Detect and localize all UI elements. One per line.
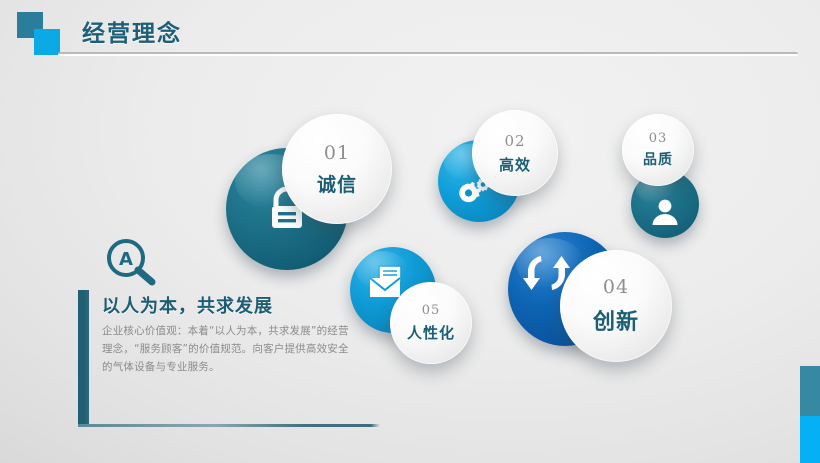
concept-heading: 以人为本，共求发展 [102,292,273,318]
edge-block-blue [800,416,820,463]
concept-paragraph: 企业核心价值观：本着“以人为本，共求发展”的经营理念，“服务顾客”的价值规范。向… [102,322,354,376]
value-node-05-number: 05 [422,303,441,318]
value-node-02-caption[interactable]: 02 高效 [472,110,558,196]
value-node-01-number: 01 [324,142,350,164]
value-node-03-label: 品质 [643,149,673,169]
header-divider [58,52,798,56]
value-node-01-caption[interactable]: 01 诚信 [282,114,392,224]
accent-bar-horizontal [78,424,380,427]
value-node-03-number: 03 [649,131,668,146]
page-title: 经营理念 [82,14,182,48]
value-node-04-number: 04 [603,276,629,298]
value-node-03-caption[interactable]: 03 品质 [622,114,694,186]
magnifier-a-icon: A [102,236,164,288]
person-icon [631,178,699,246]
value-node-04-label: 创新 [593,304,639,336]
accent-bar-vertical [78,290,89,426]
value-node-02-label: 高效 [499,154,531,175]
value-node-02-number: 02 [504,132,525,150]
value-node-04-caption[interactable]: 04 创新 [560,250,672,362]
slide-header: 经营理念 [0,0,820,62]
slide-canvas: 经营理念 A 以人为本，共求发展 企业核心价值观：本着“以人为本，共求发展”的经… [0,0,820,463]
edge-block-teal [800,366,820,416]
svg-text:A: A [119,249,133,270]
value-node-01-label: 诚信 [317,170,357,197]
value-node-05-caption[interactable]: 05 人性化 [390,282,472,364]
value-node-05-label: 人性化 [407,322,455,343]
header-square-blue [34,29,60,55]
